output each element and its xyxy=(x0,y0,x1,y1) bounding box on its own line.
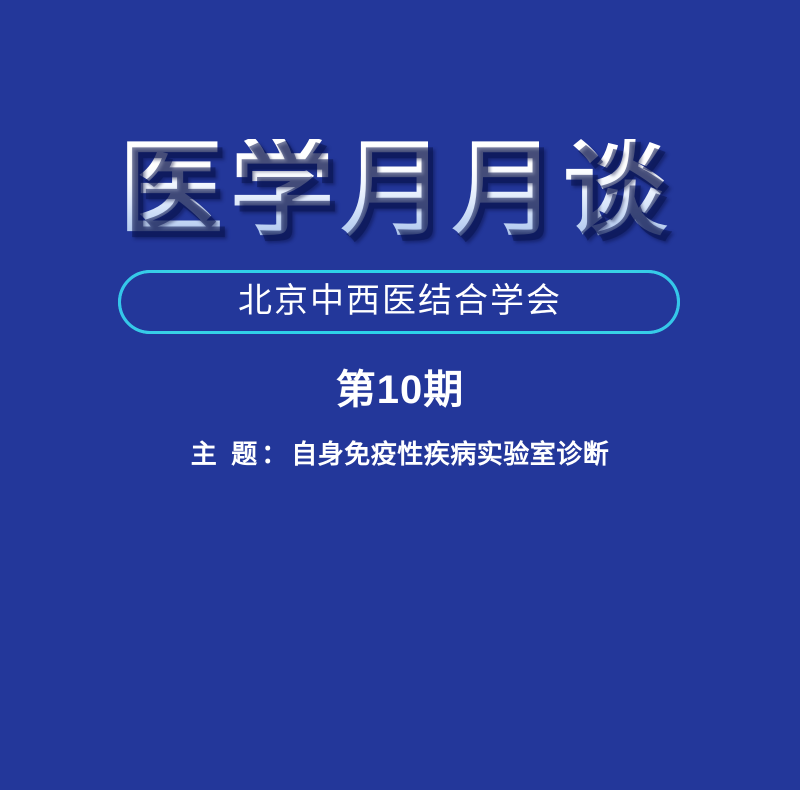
organization-name: 北京中西医结合学会 xyxy=(236,285,562,319)
main-title-text: 医学月月谈 xyxy=(119,139,674,243)
subject-value: 自身免疫性疾病实验室诊断 xyxy=(291,440,609,469)
lower-blank-area xyxy=(0,500,800,790)
poster-canvas: 医学月月谈 北京中西医结合学会 第10期 主 题：自身免疫性疾病实验室诊断 xyxy=(0,0,800,790)
main-title-container: 医学月月谈 xyxy=(0,132,800,250)
main-title: 医学月月谈 xyxy=(119,139,681,243)
subject-label: 主 题： xyxy=(191,440,292,469)
subject-line: 主 题：自身免疫性疾病实验室诊断 xyxy=(0,440,800,470)
issue-number: 第10期 xyxy=(0,369,800,411)
organization-pill: 北京中西医结合学会 xyxy=(118,270,680,334)
